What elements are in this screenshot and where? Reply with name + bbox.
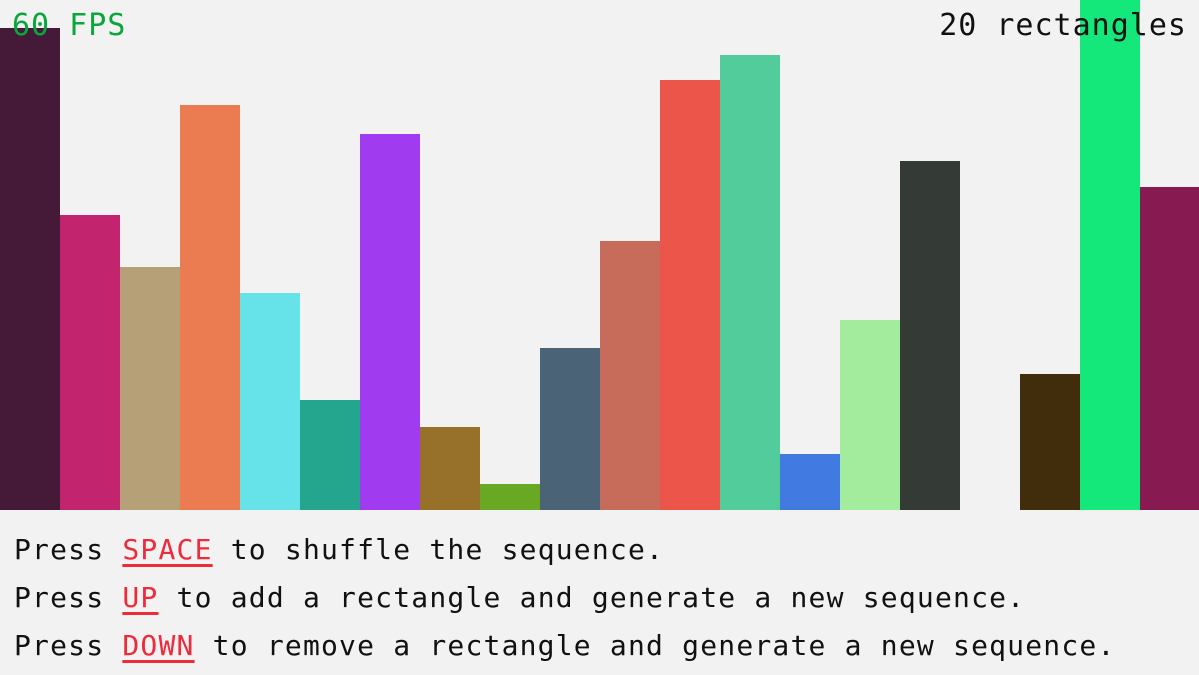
instruction-line: Press SPACE to shuffle the sequence. (14, 526, 1199, 574)
bar-rectangle (0, 28, 60, 510)
bar-rectangle (360, 134, 420, 510)
rectangle-canvas[interactable] (0, 0, 1199, 512)
bar-rectangle (60, 215, 120, 510)
instruction-prefix: Press (14, 629, 122, 662)
instruction-prefix: Press (14, 581, 122, 614)
bar-rectangle (1020, 374, 1080, 510)
key-hint-down[interactable]: DOWN (122, 629, 194, 662)
bar-rectangle (300, 400, 360, 510)
bar-rectangle (420, 427, 480, 510)
bar-rectangle (720, 55, 780, 510)
bar-rectangle (900, 161, 960, 510)
instruction-suffix: to add a rectangle and generate a new se… (158, 581, 1025, 614)
instruction-line: Press UP to add a rectangle and generate… (14, 574, 1199, 622)
instruction-prefix: Press (14, 533, 122, 566)
app-root: 60 FPS 20 rectangles Press SPACE to shuf… (0, 0, 1199, 675)
rectangle-count-label: 20 rectangles (939, 11, 1187, 41)
key-hint-space[interactable]: SPACE (122, 533, 212, 566)
fps-counter: 60 FPS (12, 11, 126, 41)
instructions-panel: Press SPACE to shuffle the sequence.Pres… (0, 512, 1199, 675)
bar-rectangle (660, 80, 720, 510)
bar-rectangle (120, 267, 180, 510)
instruction-suffix: to remove a rectangle and generate a new… (195, 629, 1116, 662)
instruction-suffix: to shuffle the sequence. (213, 533, 664, 566)
bar-rectangle (840, 320, 900, 510)
bar-rectangle (780, 454, 840, 510)
bar-rectangle (600, 241, 660, 510)
bar-rectangle (1080, 0, 1140, 510)
instruction-line: Press DOWN to remove a rectangle and gen… (14, 622, 1199, 670)
bar-rectangle (540, 348, 600, 510)
bar-rectangle (480, 484, 540, 510)
bar-rectangle (1140, 187, 1199, 510)
bar-rectangle (240, 293, 300, 510)
bar-rectangle (180, 105, 240, 510)
key-hint-up[interactable]: UP (122, 581, 158, 614)
